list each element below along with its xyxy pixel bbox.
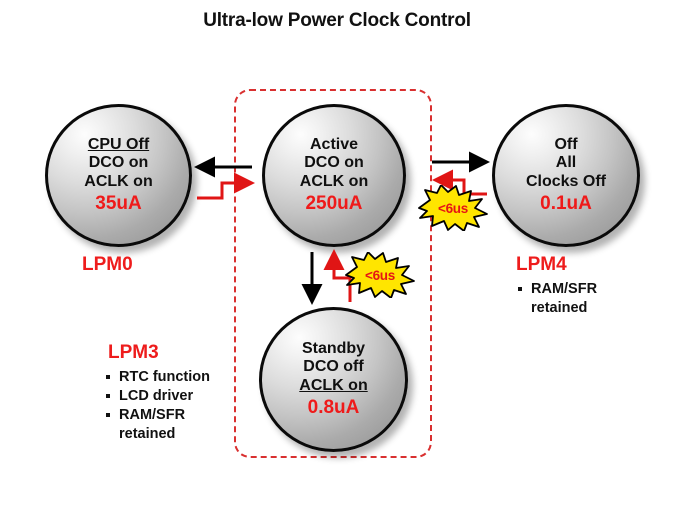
state-node-active[interactable]: Active DCO on ACLK on 250uA — [262, 104, 406, 247]
wakeup-time-badge-lpm3: <6us — [344, 252, 416, 298]
feature-item: RAM/SFR — [516, 280, 646, 299]
state-node-lpm0[interactable]: CPU Off DCO on ACLK on 35uA — [45, 104, 192, 247]
state-line: DCO on — [89, 154, 149, 173]
state-line: DCO on — [304, 154, 364, 173]
state-line: Clocks Off — [526, 173, 606, 192]
state-current-value: 35uA — [95, 193, 141, 215]
wakeup-time-text: <6us — [344, 252, 416, 298]
mode-label-lpm4: LPM4 — [516, 254, 567, 276]
mode-label-lpm3: LPM3 — [108, 342, 159, 364]
state-line: CPU Off — [88, 136, 149, 155]
feature-item: RTC function — [104, 368, 254, 387]
state-line: All — [556, 154, 576, 173]
state-line: Off — [554, 136, 577, 155]
feature-item-continuation: retained — [104, 425, 254, 444]
state-line: DCO off — [303, 358, 363, 377]
feature-item-continuation: retained — [516, 299, 646, 318]
state-current-value: 250uA — [305, 193, 362, 215]
state-line: Standby — [302, 340, 365, 359]
state-current-value: 0.1uA — [540, 193, 592, 215]
wakeup-time-badge-lpm4: <6us — [417, 185, 489, 231]
feature-item: RAM/SFR — [104, 406, 254, 425]
state-line: Active — [310, 136, 358, 155]
mode-features-lpm4: RAM/SFR retained — [516, 280, 646, 318]
mode-features-lpm3: RTC function LCD driver RAM/SFR retained — [104, 368, 254, 443]
state-line: ACLK on — [299, 377, 367, 396]
state-node-lpm4[interactable]: Off All Clocks Off 0.1uA — [492, 104, 640, 247]
state-node-standby[interactable]: Standby DCO off ACLK on 0.8uA — [259, 307, 408, 452]
state-line: ACLK on — [84, 173, 152, 192]
state-line: ACLK on — [300, 173, 368, 192]
state-current-value: 0.8uA — [308, 397, 360, 419]
mode-label-lpm0: LPM0 — [82, 254, 133, 276]
wakeup-time-text: <6us — [417, 185, 489, 231]
diagram-canvas: Ultra-low Power Clock Control CPU Off DC… — [0, 0, 674, 506]
feature-item: LCD driver — [104, 387, 254, 406]
page-title: Ultra-low Power Clock Control — [0, 10, 674, 32]
